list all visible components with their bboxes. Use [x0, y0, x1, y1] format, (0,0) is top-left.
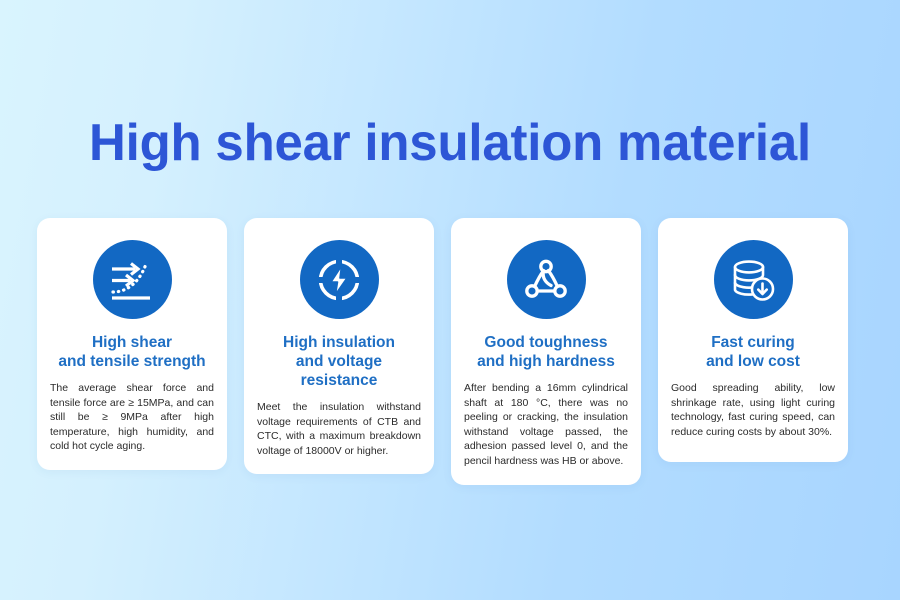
trefoil-knot-icon [507, 240, 586, 319]
shear-arrows-icon [93, 240, 172, 319]
card-heading: Fast curing and low cost [706, 333, 800, 371]
card-body-text: Meet the insulation withstand voltage re… [257, 400, 421, 458]
feature-card-fast-curing: Fast curing and low cost Good spreading … [658, 218, 848, 462]
feature-card-high-insulation: High insulation and voltage resistance M… [244, 218, 434, 474]
lightning-ring-icon [300, 240, 379, 319]
page-title: High shear insulation material [9, 112, 891, 174]
card-heading: Good toughness and high hardness [477, 333, 615, 371]
card-body-text: After bending a 16mm cylindrical shaft a… [464, 381, 628, 469]
database-download-icon [714, 240, 793, 319]
title-container: High shear insulation material [0, 112, 900, 174]
card-body-text: The average shear force and tensile forc… [50, 381, 214, 454]
poster-canvas: High shear insulation material Hig [0, 0, 900, 600]
feature-cards-row: High shear and tensile strength The aver… [37, 218, 863, 485]
card-heading: High shear and tensile strength [58, 333, 205, 371]
card-body-text: Good spreading ability, low shrinkage ra… [671, 381, 835, 439]
feature-card-good-toughness: Good toughness and high hardness After b… [451, 218, 641, 485]
feature-card-high-shear: High shear and tensile strength The aver… [37, 218, 227, 470]
card-heading: High insulation and voltage resistance [257, 333, 421, 390]
